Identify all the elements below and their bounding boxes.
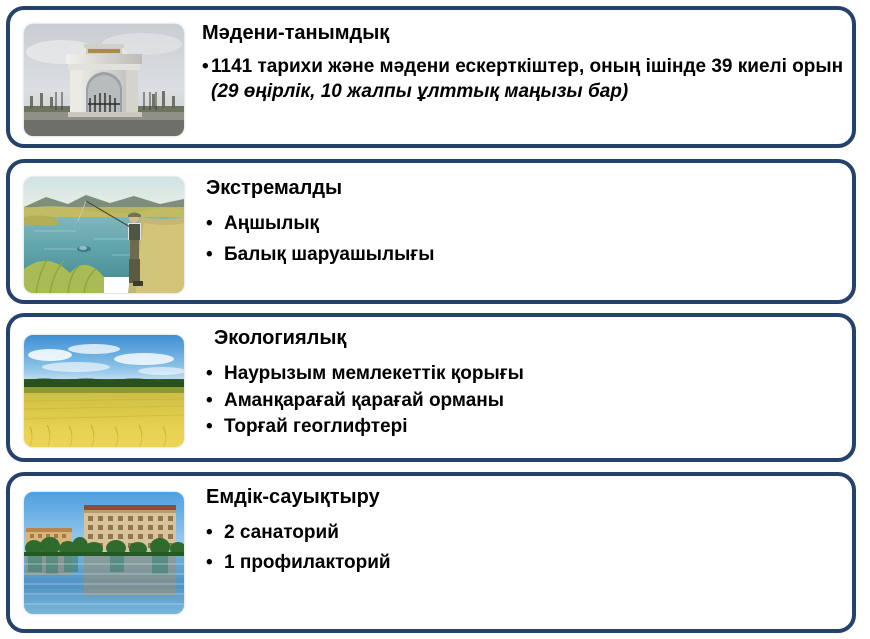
card-title: Экологиялық (206, 327, 846, 350)
bullet-marker-icon: • (206, 212, 213, 237)
bullet-text: 1141 тарихи және мәдени ескерткіштер, он… (211, 54, 862, 104)
card-title: Мәдени-танымдық (202, 22, 862, 45)
list-item: • Аңшылық (206, 212, 846, 237)
bullet-text-italic: (29 өңірлік, 10 жалпы ұлттық маңызы бар) (211, 81, 628, 102)
list-item: • Торғай геоглифтері (206, 415, 846, 440)
bullet-list: • Аңшылық • Балық шаруашылығы (206, 212, 846, 267)
bullet-marker-icon: • (206, 243, 213, 268)
bullet-text: Аманқарағай қарағай орманы (224, 389, 846, 414)
bullet-text: Наурызым мемлекеттік қорығы (224, 362, 846, 387)
bullet-text: Балық шаруашылығы (224, 243, 846, 268)
card-text-column: Экологиялық • Наурызым мемлекеттік қорығ… (206, 327, 846, 442)
list-item: • 2 санаторий (206, 521, 846, 546)
list-item: • 1141 тарихи және мәдени ескерткіштер, … (202, 54, 862, 104)
card-text-column: Емдік-сауықтыру • 2 санаторий • 1 профил… (206, 486, 846, 580)
bullet-list: • 1141 тарихи және мәдени ескерткіштер, … (202, 54, 862, 104)
bullet-text: 1 профилакторий (224, 551, 846, 576)
bullet-text: 2 санаторий (224, 521, 846, 546)
bullet-marker-icon: • (206, 389, 213, 414)
bullet-marker-icon: • (202, 54, 209, 79)
card-medical-wellness[interactable]: Емдік-сауықтыру • 2 санаторий • 1 профил… (6, 472, 856, 633)
sanatorium-lake-photo (24, 492, 184, 614)
bullet-text-plain: 1141 тарихи және мәдени ескерткіштер, он… (211, 56, 843, 77)
bullet-list: • 2 санаторий • 1 профилакторий (206, 521, 846, 575)
bullet-marker-icon: • (206, 521, 213, 546)
card-ecological[interactable]: Экологиялық • Наурызым мемлекеттік қорығ… (6, 313, 856, 462)
slide-canvas: Мәдени-танымдық • 1141 тарихи және мәден… (0, 0, 870, 639)
wheat-field-photo (24, 335, 184, 447)
list-item: • Аманқарағай қарағай орманы (206, 389, 846, 414)
stone-arch-gateway-photo (24, 24, 184, 136)
bullet-list: • Наурызым мемлекеттік қорығы • Аманқара… (206, 362, 846, 440)
bullet-marker-icon: • (206, 362, 213, 387)
card-extreme[interactable]: Экстремалды • Аңшылық • Балық шаруашылығ… (6, 159, 856, 304)
card-title: Экстремалды (206, 177, 846, 200)
fisherman-river-photo (24, 177, 184, 293)
card-title: Емдік-сауықтыру (206, 486, 846, 509)
bullet-text: Аңшылық (224, 212, 846, 237)
card-cultural-cognitive[interactable]: Мәдени-танымдық • 1141 тарихи және мәден… (6, 6, 856, 148)
bullet-text: Торғай геоглифтері (224, 415, 846, 440)
list-item: • 1 профилакторий (206, 551, 846, 576)
list-item: • Балық шаруашылығы (206, 243, 846, 268)
bullet-marker-icon: • (206, 551, 213, 576)
list-item: • Наурызым мемлекеттік қорығы (206, 362, 846, 387)
card-text-column: Мәдени-танымдық • 1141 тарихи және мәден… (202, 22, 862, 104)
card-text-column: Экстремалды • Аңшылық • Балық шаруашылығ… (206, 177, 846, 273)
bullet-marker-icon: • (206, 415, 213, 440)
